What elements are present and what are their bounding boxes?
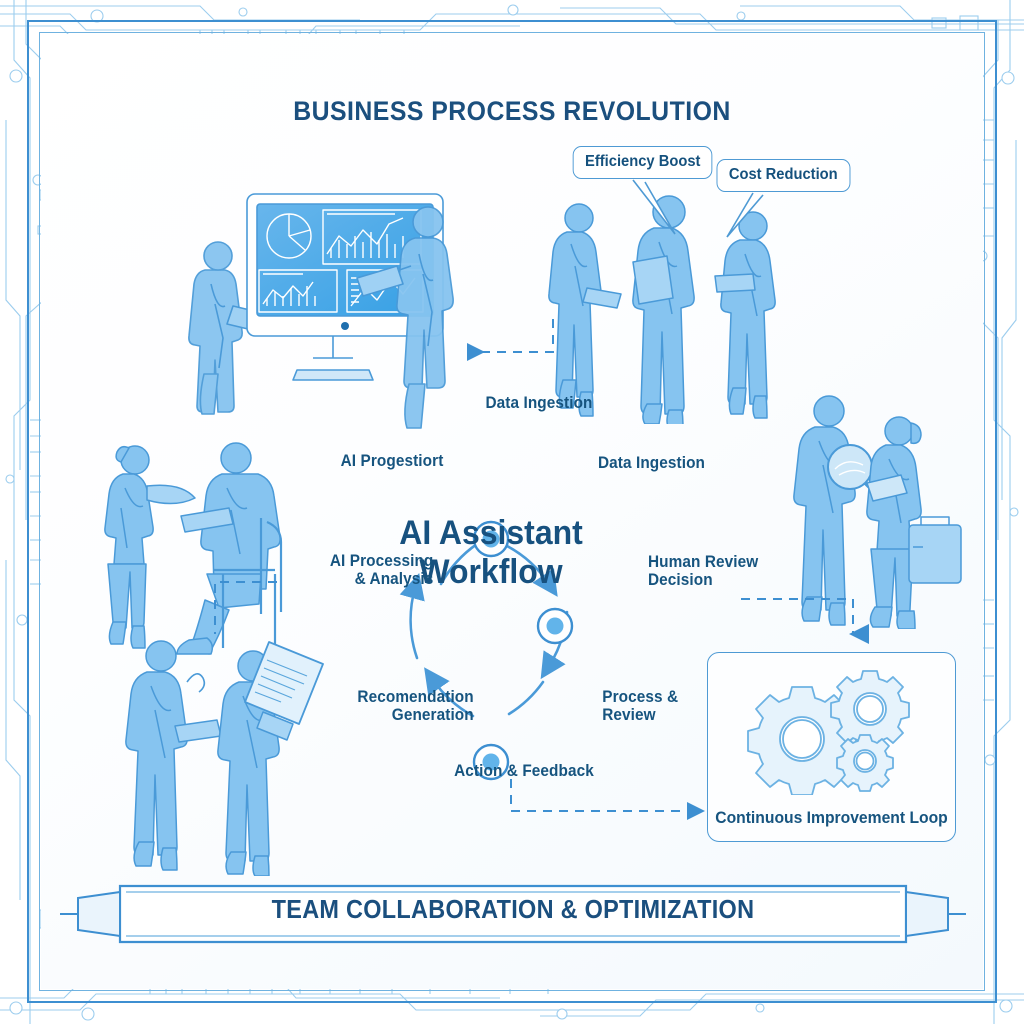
connector-review-to-gears	[741, 599, 853, 634]
callout-cost-reduction: Cost Reduction	[717, 159, 851, 192]
poster-canvas: BUSINESS PROCESS REVOLUTION	[41, 34, 983, 989]
recommendation-line2: Generation	[334, 706, 474, 724]
human-review-line1: Human Review	[648, 553, 834, 571]
callout-efficiency-boost: Efficiency Boost	[573, 146, 713, 179]
callout-cost-reduction-tail	[723, 191, 779, 239]
ai-processing-line2: & Analysis	[285, 570, 434, 588]
center-title-line1: AI Assistant	[294, 514, 689, 553]
cycle-label-data-ingestion-right: Data Ingestion	[598, 454, 784, 472]
connector-ingestion-to-monitor	[471, 319, 553, 352]
callout-efficiency-boost-tail	[631, 178, 701, 236]
three-gears-icon	[740, 667, 930, 795]
cycle-label-action-feedback: Action & Feedback	[417, 762, 631, 780]
continuous-improvement-label: Continuous Improvement Loop	[714, 809, 949, 828]
recommendation-line1: Recomendation	[334, 688, 474, 706]
ai-processing-line1: AI Processing	[285, 552, 434, 570]
connector-processing-to-left	[215, 582, 277, 634]
footer-banner-text: TEAM COLLABORATION & OPTIMIZATION	[96, 896, 930, 925]
cycle-label-recommendation: Recomendation Generation	[334, 688, 474, 725]
human-review-line2: Decision	[648, 571, 834, 589]
cycle-label-human-review: Human Review Decision	[648, 553, 834, 590]
continuous-improvement-card: Continuous Improvement Loop	[707, 652, 956, 842]
infographic-stage: BUSINESS PROCESS REVOLUTION	[0, 0, 1024, 1024]
cycle-label-ai-progestiort: AI Progestiort	[295, 452, 444, 470]
cycle-label-ai-processing: AI Processing & Analysis	[285, 552, 434, 589]
cycle-label-data-ingestion-top: Data Ingestion	[432, 394, 646, 412]
